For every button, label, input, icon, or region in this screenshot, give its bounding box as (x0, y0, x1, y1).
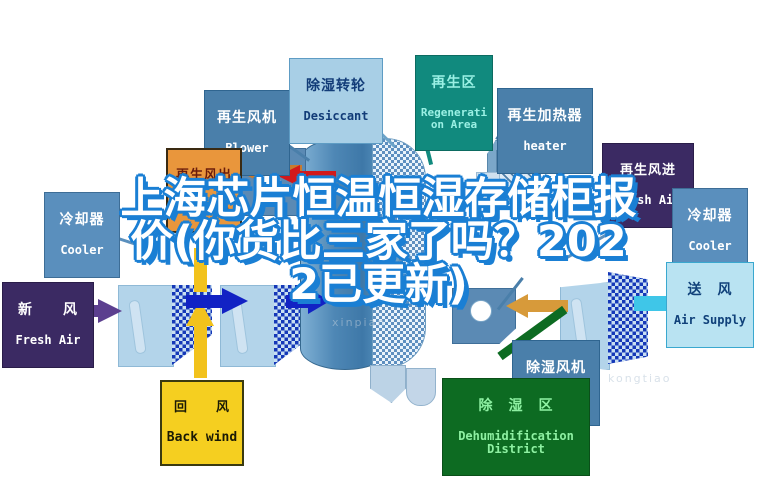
diagram-canvas: 再生风机 Blower 除湿转轮 Desiccant 再生区 Regenerat… (0, 0, 757, 488)
label-cooler-right-en: Cooler (675, 240, 745, 253)
cooler-coil-left-casing (118, 285, 174, 367)
label-regen-heater-en: heater (500, 140, 590, 153)
dehumid-blower-inlet-circle (470, 300, 492, 322)
label-dehumidification-district-cn: 除 湿 区 (445, 399, 587, 414)
label-back-wind-en: Back wind (164, 431, 240, 445)
label-air-supply-en: Air Supply (669, 314, 751, 327)
faint-watermark-2: kongtiao (608, 372, 672, 385)
label-dehumidification-district-en: Dehumidification District (445, 430, 587, 455)
label-exhaust-en: Exhaust (170, 199, 238, 212)
desiccant-rotor-hub (380, 236, 400, 268)
label-cooler-right-cn: 冷却器 (675, 209, 745, 224)
duct-elbow-upper (476, 172, 500, 200)
label-blower-regen-cn: 再生风机 (207, 111, 287, 126)
label-fresh-air-in-cn: 新 风 (5, 303, 91, 318)
label-cooler-left-en: Cooler (47, 244, 117, 257)
label-dehumidification-district[interactable]: 除 湿 区 Dehumidification District (442, 378, 590, 476)
label-regen-heater[interactable]: 再生加热器 heater (497, 88, 593, 174)
label-cooler-left[interactable]: 冷却器 Cooler (44, 192, 120, 278)
label-cooler-right[interactable]: 冷却器 Cooler (672, 188, 748, 274)
label-regen-fresh-air-in-cn: 再生风进 (605, 164, 691, 178)
faint-watermark-1: xinpian (332, 316, 386, 329)
label-fresh-air-in[interactable]: 新 风 Fresh Air (2, 282, 94, 368)
label-cooler-left-cn: 冷却器 (47, 213, 117, 228)
label-desiccant-wheel-cn: 除湿转轮 (292, 79, 380, 94)
back-wind-arrow-upper-stub (194, 248, 207, 292)
process-air-arrow (186, 288, 248, 314)
label-exhaust-cn: 再生风出 (170, 169, 238, 183)
label-desiccant-wheel[interactable]: 除湿转轮 Desiccant (289, 58, 383, 144)
label-back-wind[interactable]: 回 风 Back wind (160, 380, 244, 466)
label-dehumid-blower-cn: 除湿风机 (515, 361, 597, 376)
label-fresh-air-in-en: Fresh Air (5, 334, 91, 347)
post-cooler-fins (608, 272, 648, 364)
duct-elbow-lower (406, 368, 436, 406)
label-regeneration-area[interactable]: 再生区 Regenerati on Area (415, 55, 493, 151)
label-air-supply[interactable]: 送 风 Air Supply (666, 262, 754, 348)
label-regeneration-area-en: Regenerati on Area (418, 107, 490, 130)
label-desiccant-wheel-en: Desiccant (292, 110, 380, 123)
process-air-arrow-2 (286, 288, 330, 314)
label-exhaust[interactable]: 再生风出 Exhaust (166, 148, 242, 233)
label-back-wind-cn: 回 风 (164, 401, 240, 415)
label-regen-heater-cn: 再生加热器 (500, 109, 590, 124)
label-air-supply-cn: 送 风 (669, 283, 751, 298)
label-regeneration-area-cn: 再生区 (418, 76, 490, 91)
leader-cooler-right (563, 222, 627, 261)
rotor-sheet-lower (370, 365, 406, 403)
